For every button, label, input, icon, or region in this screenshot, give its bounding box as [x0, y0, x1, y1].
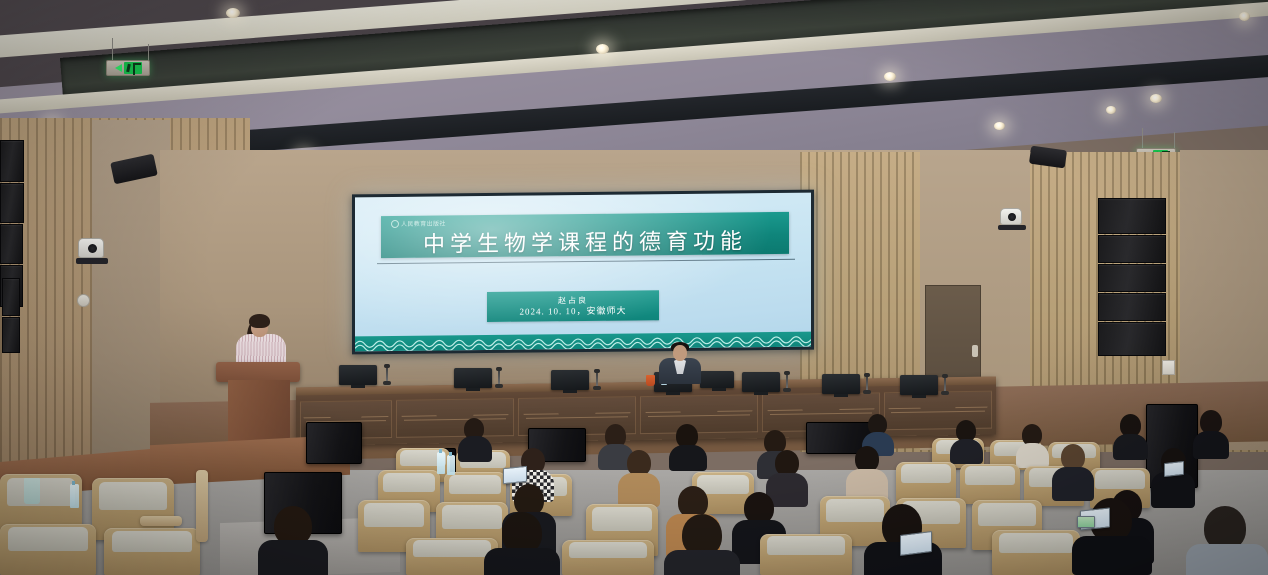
wave-pattern-icon	[355, 332, 811, 352]
head-table-monitor	[339, 365, 377, 385]
head-table-person-head	[673, 345, 687, 361]
audience-torso	[1072, 536, 1152, 575]
floor-monitor-speaker	[306, 422, 362, 464]
slide-subtitle-box: 赵占良 2024. 10. 10，安徽师大	[487, 290, 659, 322]
presentation-slide: 人民教育出版社 中学生物学课程的德育功能 赵占良 2024. 10. 10，安徽…	[355, 193, 811, 352]
wall-switch-plate[interactable]	[1162, 360, 1175, 375]
audience-torso	[1193, 431, 1229, 459]
auditorium-seat[interactable]	[992, 530, 1080, 575]
line-array-speaker-right	[1098, 198, 1166, 357]
head-table-microphone[interactable]	[866, 375, 868, 391]
auditorium-seat[interactable]	[896, 462, 956, 502]
auditorium-photo: 人民教育出版社 中学生物学课程的德育功能 赵占良 2024. 10. 10，安徽…	[0, 0, 1268, 575]
ceiling-downlight	[1239, 12, 1250, 21]
camera-lens-icon	[1008, 213, 1016, 221]
table-panel	[884, 391, 992, 431]
ptz-camera-icon	[1000, 208, 1022, 225]
head-table-monitor	[551, 370, 589, 390]
water-bottle[interactable]	[447, 455, 455, 475]
table-panel	[640, 394, 758, 434]
exit-sign-hanger	[112, 38, 113, 60]
slide-bottom-ornament	[355, 332, 811, 352]
head-table-microphone[interactable]	[498, 369, 500, 385]
audience-torso	[1151, 472, 1195, 508]
ceiling-downlight	[226, 8, 240, 18]
ceiling-downlight	[596, 44, 609, 54]
audience-torso	[484, 548, 560, 575]
seat-armrest	[196, 470, 208, 542]
head-table-microphone[interactable]	[786, 373, 788, 389]
head-table-monitor	[822, 374, 860, 394]
audience-torso	[458, 436, 492, 462]
presenter-name-text: 赵占良	[558, 295, 588, 305]
ptz-camera-icon	[78, 238, 104, 258]
presenter-hair	[249, 314, 270, 328]
camera-lens-icon	[88, 244, 97, 253]
table-panel	[396, 398, 514, 438]
ceiling-downlight	[1150, 94, 1162, 103]
wall-speaker-plate	[77, 294, 90, 307]
audience-torso	[1052, 467, 1094, 501]
projection-screen: 人民教育出版社 中学生物学课程的德育功能 赵占良 2024. 10. 10，安徽…	[352, 190, 814, 355]
podium-top	[216, 362, 300, 382]
head-table-monitor	[742, 372, 780, 392]
head-table-monitor	[900, 375, 938, 395]
seat-armrest	[140, 516, 182, 526]
water-bottle[interactable]	[70, 484, 79, 508]
head-table-microphone[interactable]	[944, 376, 946, 392]
ceiling-downlight	[884, 72, 896, 81]
head-table-laptop[interactable]	[700, 371, 734, 388]
exit-sign-hanger	[1142, 128, 1143, 148]
door-handle[interactable]	[972, 345, 978, 357]
audience-tablet[interactable]	[503, 466, 527, 485]
audience-torso	[669, 445, 707, 471]
head-table-monitor	[454, 368, 492, 388]
paper-cup[interactable]	[24, 478, 40, 504]
emergency-exit-sign-left	[106, 60, 150, 76]
water-bottle[interactable]	[437, 452, 445, 474]
ceiling-downlight	[1106, 106, 1116, 114]
audience-torso	[618, 473, 660, 507]
camera-mount	[998, 225, 1026, 230]
audience-tablet[interactable]	[900, 531, 932, 556]
audience-tablet[interactable]	[1077, 516, 1095, 528]
exit-arrow-icon	[115, 64, 122, 72]
auditorium-seat[interactable]	[0, 524, 96, 575]
date-location-text: 2024. 10. 10，安徽师大	[519, 305, 626, 317]
running-man-icon	[124, 62, 142, 74]
auditorium-seat[interactable]	[104, 528, 200, 575]
camera-mount	[76, 258, 108, 264]
audience-torso	[1016, 443, 1049, 468]
audience-tablet[interactable]	[1164, 461, 1184, 477]
audience-torso	[1113, 434, 1148, 460]
audience-torso	[258, 540, 328, 575]
paper-cup[interactable]	[646, 375, 655, 386]
ceiling-downlight	[994, 122, 1005, 130]
wall-speaker-left-upper	[2, 278, 20, 354]
head-table-microphone[interactable]	[386, 366, 388, 382]
audience-torso	[664, 550, 740, 575]
auditorium-seat[interactable]	[562, 540, 654, 575]
slide-title-underline	[377, 259, 795, 264]
slide-title-text: 中学生物学课程的德育功能	[381, 223, 789, 259]
auditorium-seat[interactable]	[960, 464, 1020, 504]
slide-title-bar: 人民教育出版社 中学生物学课程的德育功能	[381, 212, 789, 258]
auditorium-seat[interactable]	[760, 534, 852, 575]
audience-torso	[950, 439, 983, 464]
head-table	[296, 377, 996, 446]
head-table-microphone[interactable]	[596, 371, 598, 387]
audience-torso	[1186, 544, 1268, 575]
